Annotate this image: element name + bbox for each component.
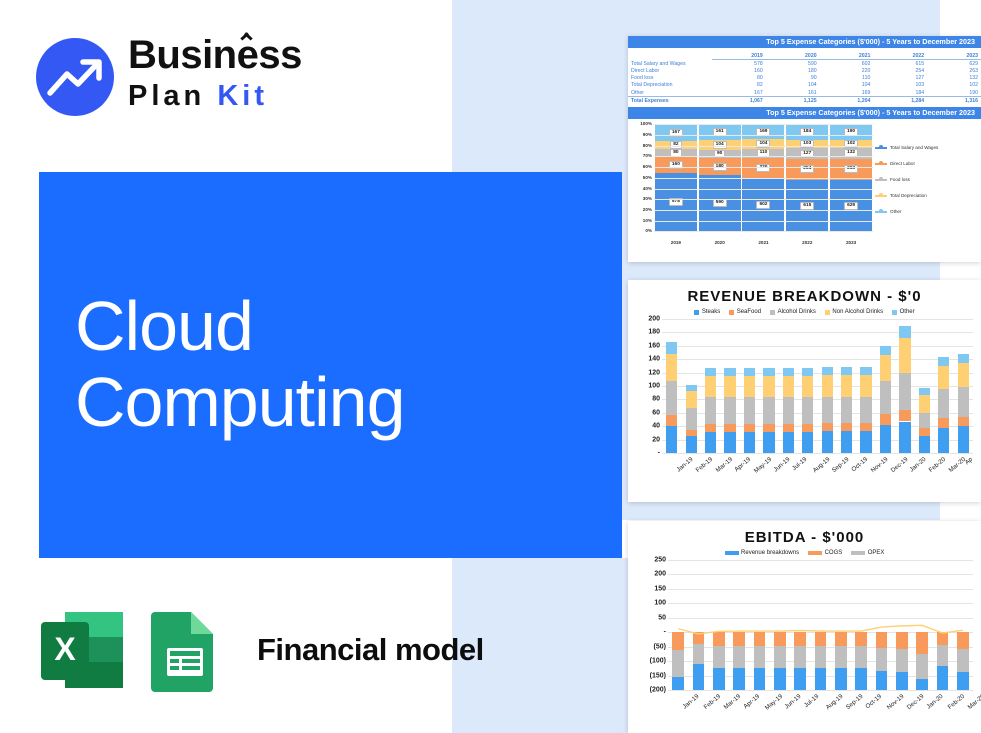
axis-tick-label: Oct-19 — [865, 693, 884, 710]
chart-bar-segment — [815, 632, 827, 646]
axis-tick-label: 2023 — [830, 240, 872, 245]
chart-bar-segment — [744, 368, 755, 376]
chart-bar-segment — [713, 632, 725, 646]
axis-tick-label: Jul-19 — [803, 693, 820, 709]
chart-bar-segment — [754, 632, 766, 646]
axis-tick-label: Jan-19 — [675, 456, 694, 474]
chart-bar-segment — [744, 397, 755, 423]
axis-tick-label: Mar-20 — [966, 693, 981, 711]
axis-tick-label: 160 — [648, 342, 660, 349]
chart-bar-segment: 254 — [786, 159, 828, 180]
legend-marker — [875, 163, 887, 165]
chart-bar-segment — [896, 632, 908, 649]
axis-tick-label: Jul-19 — [791, 456, 808, 472]
ebitda-chart-title: EBITDA - $'000 — [628, 521, 981, 546]
y-axis: 25020015010050-(50)(100)(150)(200) — [628, 556, 668, 724]
chart-bar-segment — [938, 389, 949, 418]
chart-bar-segment — [958, 354, 969, 363]
axis-tick-label: 80% — [630, 143, 652, 148]
table-cell-label: Food loss — [628, 75, 712, 82]
chart-bar — [958, 319, 969, 453]
expense-categories-card: Top 5 Expense Categories ($'000) - 5 Yea… — [628, 36, 981, 262]
axis-tick-label: 140 — [648, 356, 660, 363]
chart-bar-segment — [855, 646, 867, 668]
axis-tick-label: 2022 — [786, 240, 828, 245]
chart-bar-segment — [822, 367, 833, 375]
chart-bar-segment — [876, 648, 888, 671]
table-row: Total Salary and Wages578590602615629 — [628, 60, 981, 68]
chart-bar-segment — [958, 417, 969, 426]
table-header-row: 2019 2020 2021 2022 2023 — [628, 52, 981, 60]
chart-bar-value: 602 — [756, 201, 770, 209]
chart-bar-segment — [724, 376, 735, 397]
table-cell-value: 104 — [820, 82, 874, 89]
chart-bar-segment — [802, 397, 813, 423]
axis-tick-label: Nov-19 — [885, 693, 905, 711]
chart-bar-segment: 602 — [742, 178, 784, 231]
chart-bar-segment — [841, 423, 852, 431]
chart-bar-segment — [822, 431, 833, 453]
chart-bar — [876, 560, 888, 690]
chart-bar — [744, 319, 755, 453]
chart-bar-segment — [713, 646, 725, 668]
chart-bar — [899, 319, 910, 453]
legend-item: Total Salary and Wages — [875, 145, 977, 150]
table-cell-value: 80 — [712, 75, 766, 82]
table-cell-value: 167 — [712, 89, 766, 97]
gridline — [654, 156, 873, 157]
chart-bar-segment — [724, 432, 735, 453]
chart-bar-segment — [666, 381, 677, 416]
chart-bar-segment: 167 — [655, 124, 697, 141]
axis-tick-label: 10% — [630, 218, 652, 223]
chart-bar-segment — [938, 428, 949, 453]
chart-bar-segment: 190 — [830, 124, 872, 139]
axis-tick-label: May-19 — [763, 693, 783, 712]
chart-bar — [774, 560, 786, 690]
chart-bar-segment — [835, 646, 847, 668]
chart-bar-segment: 578 — [655, 173, 697, 231]
chart-bar-segment — [916, 632, 928, 654]
chart-bar-value: 104 — [756, 140, 770, 148]
axis-tick-label: 100% — [630, 121, 652, 126]
table-row: Direct Labor160180220254263 — [628, 67, 981, 74]
table-cell-value: 90 — [766, 75, 820, 82]
gridline — [654, 146, 873, 147]
chart-bar-segment — [919, 395, 930, 413]
chart-bar-segment — [802, 376, 813, 397]
table-total-row: Total Expenses1,0671,1251,2041,2841,316 — [628, 97, 981, 105]
svg-text:X: X — [54, 631, 76, 667]
chart-bar-value: 590 — [713, 199, 727, 207]
table-col-2023: 2023 — [927, 52, 981, 60]
legend-label: Total Salary and Wages — [890, 145, 938, 150]
axis-tick-label: 40% — [630, 186, 652, 191]
chart-bar-segment — [705, 397, 716, 423]
table-cell-value: 132 — [927, 75, 981, 82]
chart-bar — [916, 560, 928, 690]
expense-table-title: Top 5 Expense Categories ($'000) - 5 Yea… — [628, 36, 981, 48]
chart-bar-segment — [802, 368, 813, 376]
chart-bar-segment — [899, 326, 910, 337]
legend-marker — [694, 310, 699, 315]
chart-bar — [880, 319, 891, 453]
chart-bar-segment — [855, 632, 867, 646]
chart-bar-segment — [672, 632, 684, 649]
axis-tick-label: Oct-19 — [850, 456, 869, 473]
axis-tick-label: Aug-19 — [811, 456, 831, 474]
chart-bar-segment — [957, 649, 969, 672]
axis-tick-label: 120 — [648, 369, 660, 376]
chart-bar — [938, 319, 949, 453]
table-cell-value: 254 — [873, 67, 927, 74]
chart-bar-segment — [802, 424, 813, 432]
axis-tick-label: 250 — [654, 557, 666, 564]
chart-bar-segment — [938, 366, 949, 389]
revenue-chart-title: REVENUE BREAKDOWN - $'0 — [628, 280, 981, 305]
expense-stacked-chart: 1678280160578161104901805901691041102206… — [628, 119, 981, 247]
legend-marker — [851, 551, 865, 555]
chart-bar-segment — [783, 368, 794, 376]
chart-bar — [783, 319, 794, 453]
page-title: Cloud Computing — [75, 288, 595, 440]
ebitda-card: EBITDA - $'000 Revenue breakdownsCOGSOPE… — [628, 521, 981, 733]
chart-bar-segment — [693, 661, 705, 690]
chart-bar-segment — [686, 391, 697, 408]
chart-bar-segment — [841, 375, 852, 396]
circumflex-accent-icon — [240, 32, 253, 41]
axis-tick-label: Feb-20 — [928, 456, 948, 474]
table-cell-value: 263 — [927, 67, 981, 74]
chart-bar-segment — [686, 430, 697, 437]
axis-tick-label: Feb-19 — [695, 456, 715, 474]
axis-tick-label: Mar-20 — [947, 456, 967, 474]
chart-bar-segment — [919, 436, 930, 453]
google-sheets-icon — [149, 608, 221, 692]
chart-bar-segment — [880, 355, 891, 380]
chart-bar-segment — [733, 632, 745, 646]
chart-bar-segment — [860, 375, 871, 397]
chart-bar — [724, 319, 735, 453]
gridline — [654, 221, 873, 222]
legend-marker — [875, 147, 887, 149]
legend-marker — [875, 195, 887, 197]
axis-tick-label: 200 — [654, 571, 666, 578]
chart-bar — [937, 560, 949, 690]
chart-bar-segment — [794, 632, 806, 646]
chart-bar-segment — [860, 397, 871, 423]
axis-tick-label: Apr-19 — [733, 456, 752, 473]
table-cell-value: 180 — [766, 67, 820, 74]
table-cell-label: Total Expenses — [628, 97, 712, 105]
gridline — [662, 453, 973, 454]
legend-marker — [808, 551, 822, 555]
axis-tick-label: Feb-19 — [702, 693, 722, 711]
chart-bar-segment — [794, 646, 806, 668]
chart-bar-segment — [672, 650, 684, 677]
table-cell-value: 103 — [873, 82, 927, 89]
gridline — [654, 199, 873, 200]
chart-bar-segment — [783, 424, 794, 432]
axis-tick-label: (100) — [650, 658, 666, 665]
axis-tick-label: 60 — [652, 409, 660, 416]
chart-bar-segment — [783, 376, 794, 397]
table-col-2021: 2021 — [820, 52, 874, 60]
chart-bar-segment — [666, 354, 677, 381]
axis-tick-label: Dec-19 — [905, 693, 925, 711]
logo-title-primary-text: Business — [128, 33, 302, 77]
chart-bar-segment — [899, 422, 910, 453]
chart-bar-segment — [686, 436, 697, 453]
axis-tick-label: Feb-20 — [946, 693, 966, 711]
table-cell-value: 615 — [873, 60, 927, 68]
table-cell-value: 220 — [820, 67, 874, 74]
axis-tick-label: Jan-19 — [682, 693, 701, 711]
chart-bar — [705, 319, 716, 453]
table-cell-value: 82 — [712, 82, 766, 89]
gridline — [654, 135, 873, 136]
table-cell-value: 169 — [820, 89, 874, 97]
legend-marker — [825, 310, 830, 315]
chart-bar — [693, 560, 705, 690]
table-cell-value: 629 — [927, 60, 981, 68]
logo-title-secondary: Plan Kit — [128, 79, 302, 113]
axis-tick-label: 100 — [654, 600, 666, 607]
table-cell-value: 104 — [766, 82, 820, 89]
chart-bar-segment — [958, 387, 969, 417]
chart-bar-segment — [899, 338, 910, 374]
axis-tick-label: - — [658, 450, 660, 457]
chart-bar-segment — [744, 424, 755, 432]
table-cell-value: 110 — [820, 75, 874, 82]
format-label: Financial model — [257, 632, 484, 668]
axis-tick-label: Sep-19 — [831, 456, 851, 474]
axis-tick-label: (50) — [654, 643, 666, 650]
chart-bar-segment — [666, 415, 677, 425]
chart-bar-segment — [666, 426, 677, 453]
chart-bar-segment — [822, 423, 833, 431]
axis-tick-label: 2019 — [655, 240, 697, 245]
table-col-2022: 2022 — [873, 52, 927, 60]
chart-bar — [860, 319, 871, 453]
y-axis: 20018016014012010080604020- — [628, 315, 662, 493]
chart-bar — [841, 319, 852, 453]
chart-bar — [713, 560, 725, 690]
chart-bar-segment — [919, 413, 930, 428]
legend-marker — [725, 551, 739, 555]
axis-tick-label: 50 — [658, 614, 666, 621]
expense-table: 2019 2020 2021 2022 2023 Total Salary an… — [628, 52, 981, 104]
chart-bar-segment — [899, 410, 910, 421]
axis-tick-label: Apr-19 — [743, 693, 762, 710]
axis-tick-label: 70% — [630, 153, 652, 158]
gridline — [654, 231, 873, 232]
table-cell-value: 1,067 — [712, 97, 766, 105]
chart-bar-segment — [899, 373, 910, 410]
chart-bar-segment — [774, 632, 786, 646]
table-col-2020: 2020 — [766, 52, 820, 60]
chart-bar-segment: 184 — [786, 124, 828, 139]
table-col-label — [628, 52, 712, 60]
chart-bar-segment — [916, 654, 928, 679]
axis-tick-label: 180 — [648, 329, 660, 336]
chart-bar-segment — [841, 431, 852, 453]
chart-bar-segment — [693, 632, 705, 644]
legend-item: Other — [875, 209, 977, 214]
chart-bar-segment — [919, 428, 930, 436]
axis-tick-label: 60% — [630, 164, 652, 169]
chart-columns — [668, 560, 973, 690]
chart-bar-value: 629 — [844, 202, 858, 210]
chart-bar-segment — [880, 425, 891, 453]
legend-item: Total Depreciation — [875, 193, 977, 198]
ebitda-chart-plot: 25020015010050-(50)(100)(150)(200)Jan-19… — [628, 556, 981, 724]
chart-bar-segment: 102 — [830, 140, 872, 148]
chart-bar-segment — [880, 346, 891, 355]
logo-subtitle-kit: Kit — [217, 80, 268, 112]
chart-bar-segment — [774, 646, 786, 668]
revenue-breakdown-card: REVENUE BREAKDOWN - $'0 SteaksSeaFoodAlc… — [628, 280, 981, 502]
chart-bar-segment — [815, 646, 827, 668]
chart-bar-segment — [860, 431, 871, 453]
chart-bar-segment — [763, 368, 774, 376]
brand-logo: Business Plan Kit — [36, 33, 336, 123]
chart-bar — [822, 319, 833, 453]
chart-bar — [855, 560, 867, 690]
table-row: Total Depreciation82104104103102 — [628, 82, 981, 89]
chart-bar — [754, 560, 766, 690]
chart-bar-segment — [958, 426, 969, 453]
chart-bar-segment: 104 — [742, 139, 784, 148]
gridline — [654, 124, 873, 125]
chart-bar-segment — [763, 397, 774, 423]
legend-marker — [770, 310, 775, 315]
axis-tick-label: Jun-19 — [772, 456, 791, 474]
chart-bar — [835, 560, 847, 690]
chart-bar-segment — [841, 397, 852, 423]
table-cell-label: Direct Labor — [628, 67, 712, 74]
chart-bar-segment — [686, 408, 697, 429]
legend-item: Food loss — [875, 177, 977, 182]
legend-label: Food loss — [890, 177, 910, 182]
chart-bar-segment — [744, 432, 755, 453]
logo-title-primary: Business — [128, 33, 302, 77]
table-cell-value: 1,125 — [766, 97, 820, 105]
chart-bar-segment — [724, 424, 735, 432]
table-cell-value: 578 — [712, 60, 766, 68]
chart-bar-segment — [880, 381, 891, 415]
chart-bar-segment — [705, 432, 716, 453]
expense-chart-title: Top 5 Expense Categories ($'000) - 5 Yea… — [628, 107, 981, 119]
table-row: Food loss8090110127132 — [628, 75, 981, 82]
table-cell-value: 102 — [927, 82, 981, 89]
axis-tick-label: 0% — [630, 228, 652, 233]
chart-bar-segment — [693, 644, 705, 664]
axis-tick-label: - — [664, 629, 666, 636]
table-cell-value: 1,316 — [927, 97, 981, 105]
table-cell-value: 590 — [766, 60, 820, 68]
chart-bar-segment — [876, 632, 888, 648]
chart-bar-segment — [860, 423, 871, 431]
axis-tick-label: 40 — [652, 423, 660, 430]
chart-bar-segment — [802, 432, 813, 453]
axis-tick-label: Ap — [964, 456, 974, 466]
chart-bar-segment — [744, 376, 755, 397]
microsoft-excel-icon: X — [39, 608, 125, 692]
chart-bar-segment — [835, 632, 847, 646]
gridline — [654, 178, 873, 179]
axis-tick-label: Mar-19 — [714, 456, 734, 474]
axis-tick-label: (150) — [650, 672, 666, 679]
table-cell-value: 161 — [766, 89, 820, 97]
legend-marker — [875, 179, 887, 181]
chart-bar — [672, 560, 684, 690]
chart-bar — [896, 560, 908, 690]
axis-tick-label: 200 — [648, 316, 660, 323]
chart-bar-segment: 169 — [742, 124, 784, 139]
chart-bar — [802, 319, 813, 453]
axis-tick-label: Aug-19 — [824, 693, 844, 711]
revenue-chart-plot: 20018016014012010080604020-Jan-19Feb-19M… — [628, 315, 981, 493]
axis-tick-label: Mar-19 — [722, 693, 742, 711]
chart-bar-segment — [841, 367, 852, 375]
legend-marker — [729, 310, 734, 315]
table-cell-label: Total Depreciation — [628, 82, 712, 89]
chart-bar — [815, 560, 827, 690]
axis-tick-label: (200) — [650, 687, 666, 694]
legend-label: Direct Labor — [890, 161, 915, 166]
legend-label: Other — [890, 209, 902, 214]
legend-marker — [875, 211, 887, 213]
table-col-2019: 2019 — [712, 52, 766, 60]
chart-bar-segment — [938, 418, 949, 427]
table-cell-value: 1,284 — [873, 97, 927, 105]
axis-tick-label: Dec-19 — [889, 456, 909, 474]
chart-columns — [662, 319, 973, 453]
chart-bar-segment — [705, 424, 716, 432]
table-cell-value: 127 — [873, 75, 927, 82]
chart-bar-segment: 590 — [699, 175, 741, 231]
logo-subtitle-plan: Plan — [128, 80, 205, 112]
axis-tick-label: 100 — [648, 383, 660, 390]
axis-tick-label: 20% — [630, 207, 652, 212]
chart-bar — [733, 560, 745, 690]
chart-bar-value: 103 — [800, 140, 814, 148]
gridline — [668, 690, 973, 691]
axis-tick-label: Nov-19 — [870, 456, 890, 474]
legend-marker — [892, 310, 897, 315]
axis-tick-label: Jan-20 — [926, 693, 945, 711]
axis-tick-label: 90% — [630, 132, 652, 137]
chart-bar — [666, 319, 677, 453]
chart-bar-segment — [754, 646, 766, 668]
chart-bar-segment — [763, 424, 774, 432]
chart-bar-segment — [763, 432, 774, 453]
axis-tick-label: 50% — [630, 175, 652, 180]
chart-bar-segment — [724, 368, 735, 376]
chart-bar — [763, 319, 774, 453]
axis-tick-label: 20 — [652, 436, 660, 443]
gridline — [654, 167, 873, 168]
table-cell-label: Other — [628, 89, 712, 97]
table-cell-label: Total Salary and Wages — [628, 60, 712, 68]
chart-bar-segment — [860, 367, 871, 375]
axis-tick-label: Jan-20 — [908, 456, 927, 474]
table-cell-value: 184 — [873, 89, 927, 97]
chart-bar-segment: 160 — [655, 157, 697, 173]
chart-bar — [957, 560, 969, 690]
chart-bar-segment — [705, 376, 716, 397]
